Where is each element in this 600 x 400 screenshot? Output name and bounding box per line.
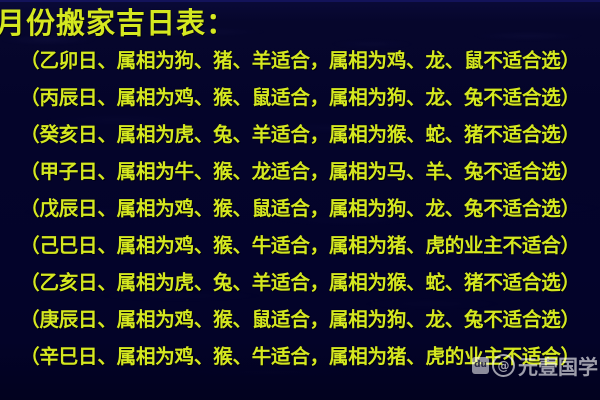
poster-content: 月份搬家吉日表： （乙卯日、属相为狗、猪、羊适合，属相为鸡、龙、鼠不适合选） （…: [0, 0, 600, 400]
list-item: （甲子日、属相为牛、猴、龙适合，属相为马、羊、兔不适合选）: [0, 159, 600, 185]
list-item: （丙辰日、属相为鸡、猴、鼠适合，属相为狗、龙、兔不适合选）: [0, 85, 600, 111]
page-title: 月份搬家吉日表：: [0, 6, 596, 40]
list-item: （辛巳日、属相为鸡、猴、牛适合，属相为猪、虎的业主不适合）: [0, 344, 600, 370]
list-item: （癸亥日、属相为虎、兔、羊适合，属相为猴、蛇、猪不适合选）: [0, 122, 600, 148]
list-item: （戊辰日、属相为鸡、猴、鼠适合，属相为狗、龙、兔不适合选）: [0, 196, 600, 222]
poster-image: 月份搬家吉日表： （乙卯日、属相为狗、猪、羊适合，属相为鸡、龙、鼠不适合选） （…: [0, 0, 600, 400]
list-item: （庚辰日、属相为鸡、猴、鼠适合，属相为狗、龙、兔不适合选）: [0, 307, 600, 333]
list-item: （乙亥日、属相为虎、兔、羊适合，属相为猴、蛇、猪不适合选）: [0, 270, 600, 296]
list-item: （乙卯日、属相为狗、猪、羊适合，属相为鸡、龙、鼠不适合选）: [0, 48, 600, 74]
list-item: （己巳日、属相为鸡、猴、牛适合，属相为猪、虎的业主不适合）: [0, 233, 600, 259]
